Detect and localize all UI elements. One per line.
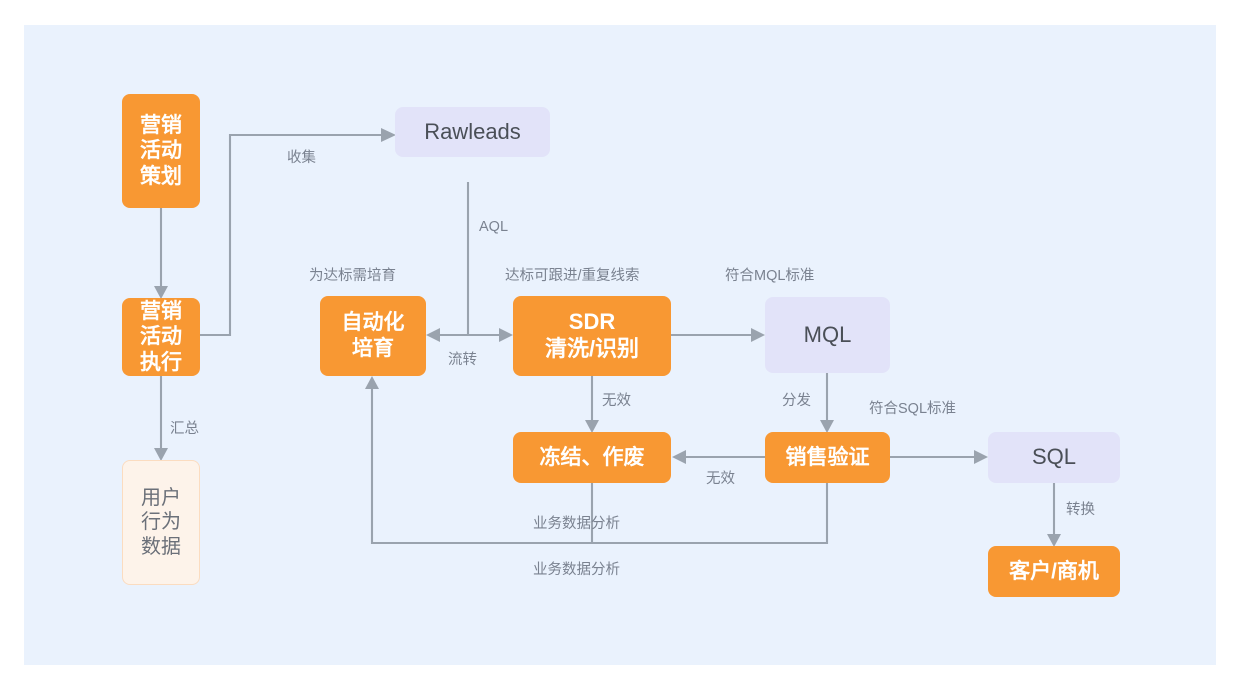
edge-label-meets-sql: 符合SQL标准 bbox=[869, 402, 956, 417]
node-freeze-discard-label: 冻结、作废 bbox=[540, 445, 645, 471]
node-campaign-exec-line2: 活动 bbox=[140, 324, 182, 350]
arrowhead-aql-to-nurture bbox=[426, 328, 440, 342]
node-rawleads[interactable]: Rawleads bbox=[395, 107, 550, 157]
node-sql[interactable]: SQL bbox=[988, 432, 1120, 483]
arrowhead-exec-to-rawleads bbox=[381, 128, 396, 142]
node-sdr-line1: SDR bbox=[569, 309, 615, 336]
edge-label-meets-mql: 符合MQL标准 bbox=[725, 269, 814, 284]
edge-label-biz-analysis-1: 业务数据分析 bbox=[533, 517, 620, 532]
edge-label-biz-analysis-2: 业务数据分析 bbox=[533, 563, 620, 578]
arrowhead-sdr-to-mql bbox=[751, 328, 765, 342]
node-rawleads-label: Rawleads bbox=[424, 119, 521, 146]
node-mql[interactable]: MQL bbox=[765, 297, 890, 373]
node-campaign-plan-line3: 策划 bbox=[140, 164, 182, 190]
node-user-behavior-data[interactable]: 用户 行为 数据 bbox=[122, 460, 200, 585]
edge-label-qualified-followup: 达标可跟进/重复线索 bbox=[505, 269, 640, 284]
node-user-behavior-line1: 用户 bbox=[141, 486, 181, 510]
node-campaign-exec-line3: 执行 bbox=[140, 350, 182, 376]
node-auto-nurture-line2: 培育 bbox=[352, 336, 394, 362]
edge-label-invalid-sdr: 无效 bbox=[602, 394, 631, 409]
node-sdr-line2: 清洗/识别 bbox=[545, 336, 639, 363]
diagram-canvas: 营销 活动 策划 营销 活动 执行 用户 行为 数据 Rawleads 自动化 … bbox=[24, 25, 1216, 665]
node-campaign-plan[interactable]: 营销 活动 策划 bbox=[122, 94, 200, 208]
wire-verify-feedback bbox=[372, 483, 827, 543]
node-auto-nurture[interactable]: 自动化 培育 bbox=[320, 296, 426, 376]
node-user-behavior-line2: 行为 bbox=[141, 510, 181, 534]
node-sql-label: SQL bbox=[1032, 444, 1076, 471]
edge-label-distribute: 分发 bbox=[782, 394, 811, 409]
arrowhead-aql-to-sdr bbox=[499, 328, 513, 342]
node-campaign-plan-line1: 营销 bbox=[140, 113, 182, 139]
node-sdr[interactable]: SDR 清洗/识别 bbox=[513, 296, 671, 376]
edge-label-aql: AQL bbox=[479, 220, 508, 235]
diagram-frame: 营销 活动 策划 营销 活动 执行 用户 行为 数据 Rawleads 自动化 … bbox=[0, 0, 1240, 692]
edge-label-summary: 汇总 bbox=[170, 422, 199, 437]
edge-label-flow: 流转 bbox=[448, 353, 477, 368]
arrowhead-verify-to-freeze bbox=[672, 450, 686, 464]
node-user-behavior-line3: 数据 bbox=[141, 535, 181, 559]
node-freeze-discard[interactable]: 冻结、作废 bbox=[513, 432, 671, 483]
node-sales-verify[interactable]: 销售验证 bbox=[765, 432, 890, 483]
edge-label-invalid-sales: 无效 bbox=[706, 472, 735, 487]
arrowhead-verify-to-sql bbox=[974, 450, 988, 464]
node-campaign-exec[interactable]: 营销 活动 执行 bbox=[122, 298, 200, 376]
node-sales-verify-label: 销售验证 bbox=[786, 445, 870, 471]
edge-label-need-nurture: 为达标需培育 bbox=[309, 269, 396, 284]
node-customer-opportunity[interactable]: 客户/商机 bbox=[988, 546, 1120, 597]
node-campaign-plan-line2: 活动 bbox=[140, 138, 182, 164]
arrowhead-feedback-to-nurture bbox=[365, 376, 379, 389]
edge-label-convert: 转换 bbox=[1066, 503, 1095, 518]
node-customer-opportunity-label: 客户/商机 bbox=[1009, 559, 1099, 585]
node-mql-label: MQL bbox=[804, 322, 852, 349]
node-auto-nurture-line1: 自动化 bbox=[342, 310, 405, 336]
edge-label-collect: 收集 bbox=[287, 151, 316, 166]
node-campaign-exec-line1: 营销 bbox=[140, 299, 182, 325]
